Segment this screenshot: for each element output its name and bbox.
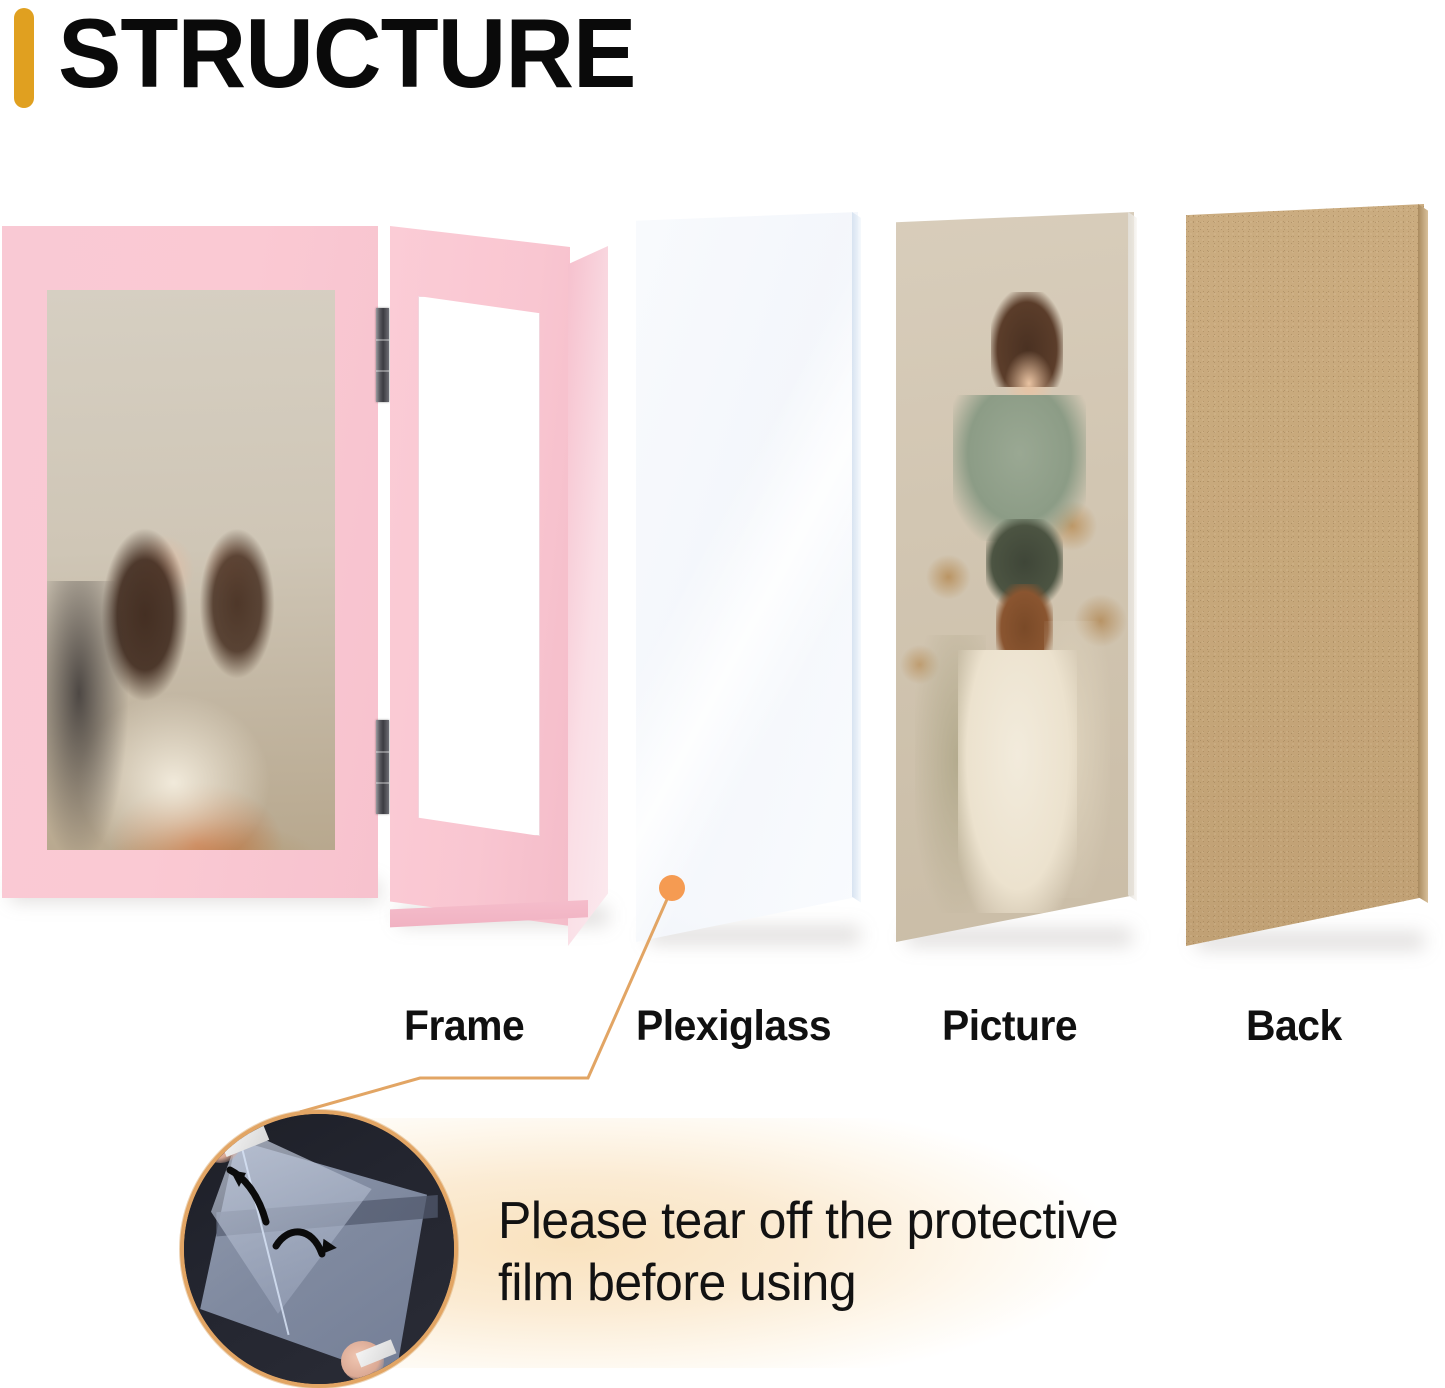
hinge-icon: [376, 308, 389, 402]
label-frame: Frame: [404, 1002, 524, 1051]
photo-father-child: [896, 212, 1134, 942]
label-plexiglass: Plexiglass: [636, 1002, 831, 1051]
back-edge: [1418, 204, 1428, 946]
note-line-1: Please tear off the protective: [498, 1190, 1256, 1252]
plexiglass-panel: [636, 212, 880, 952]
photo-mother-daughter: [47, 290, 335, 850]
plexiglass-sheen: [636, 212, 858, 942]
frame-panel-right: [390, 200, 620, 960]
picture-panel: [896, 212, 1146, 954]
panel-labels: Frame Plexiglass Picture Back: [0, 1002, 1445, 1064]
frame-panel-left: [2, 226, 378, 898]
label-back: Back: [1246, 1002, 1342, 1051]
exploded-view-diagram: [0, 190, 1445, 1000]
back-panel: [1186, 204, 1442, 956]
label-picture: Picture: [942, 1002, 1077, 1051]
plexiglass-edge: [852, 212, 861, 942]
protective-film-note: Please tear off the protective film befo…: [498, 1190, 1256, 1314]
frame-right-opening: [418, 296, 540, 836]
frame-photo-window: [47, 290, 335, 850]
hinge-icon: [376, 720, 389, 814]
accent-bar: [14, 8, 34, 108]
page-header: STRUCTURE: [0, 0, 1445, 120]
page-title: STRUCTURE: [58, 0, 635, 108]
picture-edge: [1128, 212, 1137, 942]
note-line-2: film before using: [498, 1252, 1256, 1314]
frame-right-depth-edge: [568, 246, 608, 946]
back-fiberboard: [1186, 204, 1424, 946]
photo-father-tshirt: [958, 650, 1077, 913]
inset-arrows: [184, 1114, 458, 1388]
photo-shadow-area: [47, 581, 128, 850]
protective-film-inset-photo: [180, 1110, 458, 1388]
